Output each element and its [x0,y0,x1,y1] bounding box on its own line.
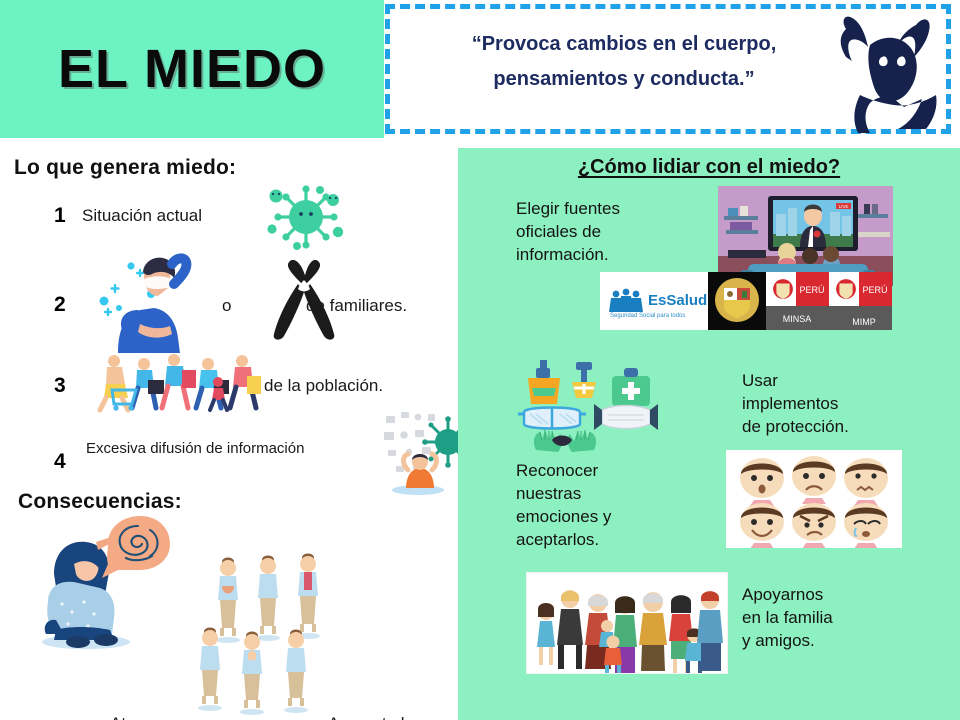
cope-text-3-line1: Reconocer [516,460,696,483]
cause-number-2: 2 [54,293,66,317]
cope-text-2-line2: implementos [742,393,922,416]
svg-text:PERÚ: PERÚ [862,285,887,295]
svg-text:LIVE: LIVE [839,204,849,209]
cope-text-1: Elegir fuentes oficiales de información. [516,198,676,267]
title-banner: EL MIEDO [0,0,384,138]
right-panel: ¿Cómo lidiar con el miedo? Elegir fuente… [458,148,960,720]
official-sources-logo-strip: EsSalud Seguridad Social para todos PERÚ [600,272,892,330]
page-title: EL MIEDO [58,38,326,100]
consequence-text-2-line1: Aumenta la [328,714,414,720]
quote-line-2: pensamientos y conducta.” [414,62,834,97]
anxiety-thought-bubble-icon [92,514,172,578]
cope-text-2-line1: Usar [742,370,922,393]
tv-news-family-photo: LIVE [718,186,893,286]
cope-text-4-line3: y amigos. [742,630,922,653]
cause-number-4: 4 [54,450,66,474]
quote-box: “Provoca cambios en el cuerpo, pensamien… [385,4,951,134]
svg-text:MINSA: MINSA [783,314,812,324]
cope-text-1-line3: información. [516,244,676,267]
infographic-poster: EL MIEDO “Provoca cambios en el cuerpo, … [0,0,960,720]
svg-text:Seguridad Social para todos: Seguridad Social para todos [610,313,685,319]
cope-text-4-line1: Apoyarnos [742,584,922,607]
family-group-photo [526,572,728,674]
information-overload-icon [382,410,466,496]
cause-text-1: Situación actual [82,206,202,226]
protective-equipment-icon [516,348,666,453]
cope-text-3-line2: nuestras [516,483,696,506]
heading-how-to-cope: ¿Cómo lidiar con el miedo? [458,156,960,179]
cause-number-3: 3 [54,374,66,398]
cause-number-1: 1 [54,204,66,228]
cope-text-3-line4: aceptarlos. [516,529,696,552]
cope-text-3-line3: emociones y [516,506,696,529]
cope-text-4-line2: en la familia [742,607,922,630]
cause-text-2a: o [222,296,231,316]
boxer-dog-silhouette-icon [830,11,940,137]
quote-text: “Provoca cambios en el cuerpo, pensamien… [414,27,834,97]
svg-text:EsSalud: EsSalud [648,292,707,309]
panic-buying-crowd-icon [92,350,262,410]
heading-consequences: Consecuencias: [18,490,182,514]
cope-text-1-line1: Elegir fuentes [516,198,676,221]
svg-text:PERÚ: PERÚ [799,285,824,295]
emotion-faces-photo [726,450,902,548]
cause-text-2b: de familiares. [306,296,407,316]
cope-text-4: Apoyarnos en la familia y amigos. [742,584,922,653]
symptomatic-people-row2-icon [196,614,326,714]
consequence-text-1-line1: Ataques [110,714,172,720]
cope-text-2-line3: de protección. [742,416,922,439]
left-column: Lo que genera miedo: 1 Situación actual [0,138,458,720]
cope-text-2: Usar implementos de protección. [742,370,922,439]
cause-text-3: de la población. [264,376,383,396]
sick-person-icon [88,246,210,354]
heading-causes: Lo que genera miedo: [14,156,236,180]
cause-text-4: Excesiva difusión de información [86,440,304,457]
cope-text-3: Reconocer nuestras emociones y aceptarlo… [516,460,696,552]
quote-line-1: “Provoca cambios en el cuerpo, [472,33,777,55]
cope-text-1-line2: oficiales de [516,221,676,244]
svg-text:MIMP: MIMP [852,317,876,327]
coronavirus-icon [262,184,346,250]
